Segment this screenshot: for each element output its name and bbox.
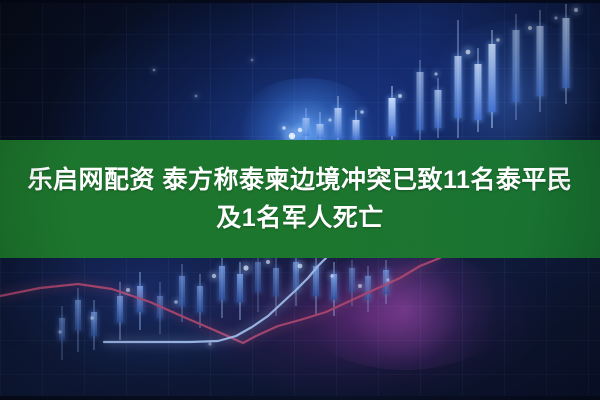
candle-body bbox=[455, 56, 462, 118]
sparkle-dot bbox=[434, 72, 437, 75]
sparkle-dot bbox=[208, 342, 211, 345]
top-edge-strip bbox=[0, 0, 600, 3]
sparkle-dot bbox=[496, 38, 500, 42]
sparkle-dot bbox=[243, 265, 248, 270]
sparkle-dot bbox=[398, 94, 402, 98]
candle-body bbox=[197, 286, 203, 312]
candle-body bbox=[389, 98, 396, 136]
candle-body bbox=[435, 90, 442, 128]
headline-line-1: 乐启网配资 泰方称泰柬边境冲突已致11名泰平民 bbox=[28, 161, 573, 199]
candle-body bbox=[417, 72, 424, 130]
candle-body bbox=[117, 296, 123, 322]
sparkle-dot bbox=[153, 69, 156, 72]
sparkle-dot bbox=[386, 278, 389, 281]
sparkle-dot bbox=[266, 260, 270, 264]
candle-body bbox=[489, 44, 496, 112]
sparkle-dot bbox=[554, 16, 557, 19]
sparkle-dot bbox=[282, 126, 286, 130]
sparkle-dot bbox=[174, 300, 178, 304]
candle-body bbox=[273, 268, 279, 296]
sparkle-dot bbox=[289, 133, 295, 139]
candle-body bbox=[75, 300, 81, 330]
sparkle-dot bbox=[574, 8, 578, 12]
sparkle-dot bbox=[358, 284, 362, 288]
candle-body bbox=[255, 262, 261, 292]
sparkle-dot bbox=[360, 110, 364, 114]
thumbnail-canvas: 乐启网配资 泰方称泰柬边境冲突已致11名泰平民 及1名军人死亡 bbox=[0, 0, 600, 400]
sparkle-dot bbox=[298, 264, 303, 269]
sparkle-dot bbox=[330, 274, 334, 278]
sparkle-dot bbox=[195, 95, 198, 98]
candle-body bbox=[219, 266, 225, 300]
bottom-edge-strip bbox=[0, 396, 600, 400]
candle-body bbox=[335, 108, 342, 138]
sparkle-dot bbox=[328, 118, 331, 121]
sparkle-dot bbox=[298, 128, 302, 132]
sparkle-dot bbox=[58, 330, 61, 333]
candle-body bbox=[353, 120, 360, 140]
sparkle-dot bbox=[126, 288, 130, 292]
candle-body bbox=[537, 26, 544, 96]
green-headline-banner: 乐启网配资 泰方称泰柬边境冲突已致11名泰平民 及1名军人死亡 bbox=[0, 140, 600, 258]
candle-body bbox=[349, 268, 355, 292]
candle-body bbox=[475, 64, 482, 120]
candle-body bbox=[317, 124, 324, 139]
sparkle-dot bbox=[90, 316, 94, 320]
sparkle-dot bbox=[528, 26, 532, 30]
candle-body bbox=[237, 274, 243, 302]
headline-line-2: 及1名军人死亡 bbox=[216, 199, 383, 237]
sparkle-dot bbox=[466, 50, 471, 55]
sparkle-dot bbox=[212, 274, 216, 278]
sparkle-dot bbox=[251, 59, 254, 62]
candle-body bbox=[563, 18, 570, 88]
candle-body bbox=[513, 30, 520, 102]
